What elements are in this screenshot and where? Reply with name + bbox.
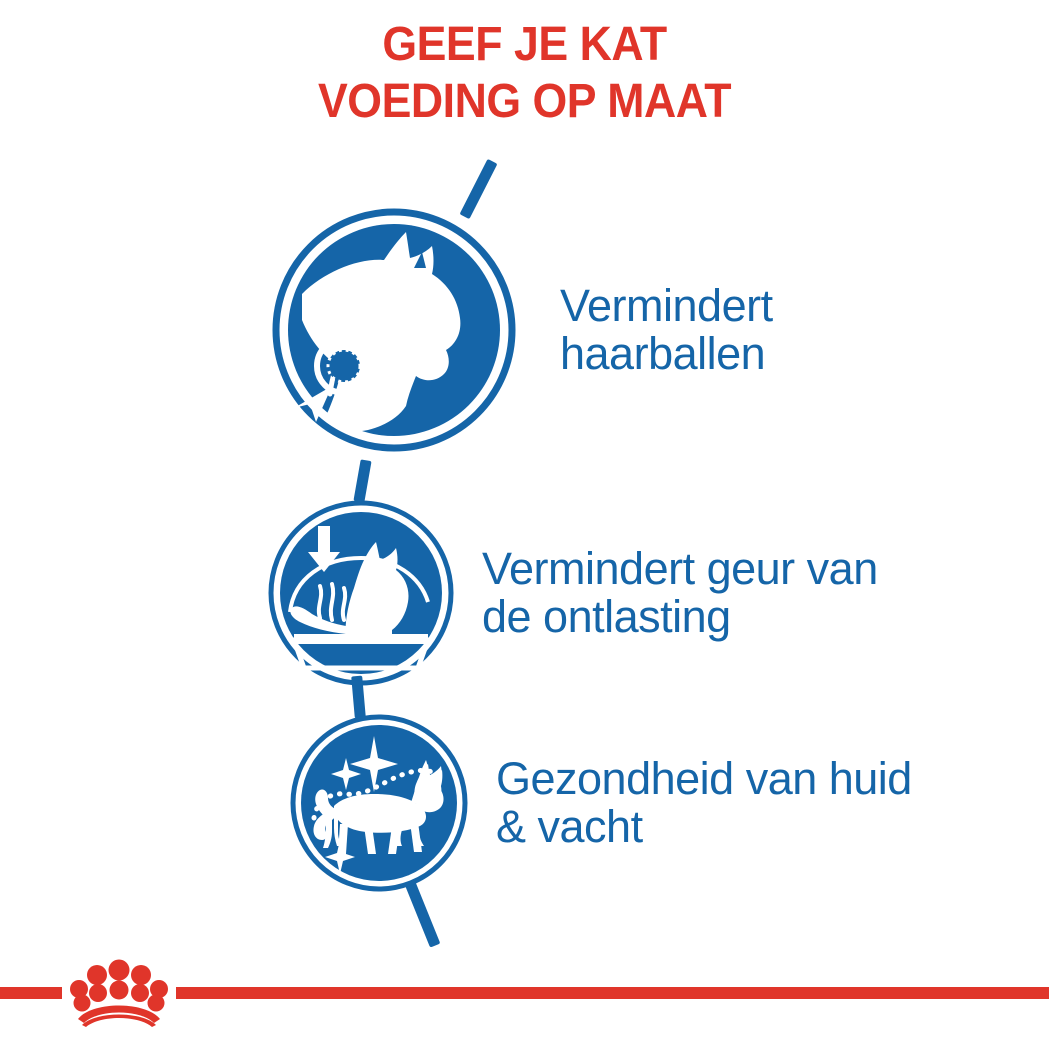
feature-row-stool-odour: Vermindert geur van de ontlasting	[268, 500, 878, 686]
page-title-line-1: GEEF JE KAT	[37, 16, 1013, 73]
connector-dash-1-2	[353, 459, 371, 502]
footer-rule-right	[176, 987, 1049, 999]
feature-label-hairballs: Vermindert haarballen	[560, 282, 773, 377]
page-title-line-2: VOEDING OP MAAT	[37, 73, 1013, 130]
feature-label-skin-coat: Gezondheid van huid & vacht	[496, 755, 912, 850]
hairball-reduction-icon	[272, 208, 516, 452]
feature-row-skin-coat: Gezondheid van huid & vacht	[290, 714, 912, 892]
footer-rule-left	[0, 987, 62, 999]
page-title: GEEF JE KAT VOEDING OP MAAT	[37, 16, 1013, 130]
feature-row-hairballs: Vermindert haarballen	[272, 208, 773, 452]
royal-canin-crown-logo	[66, 957, 172, 1027]
footer	[0, 944, 1049, 1049]
stool-odour-reduction-icon	[268, 500, 454, 686]
skin-coat-health-icon	[290, 714, 468, 892]
feature-label-stool-odour: Vermindert geur van de ontlasting	[482, 545, 878, 640]
